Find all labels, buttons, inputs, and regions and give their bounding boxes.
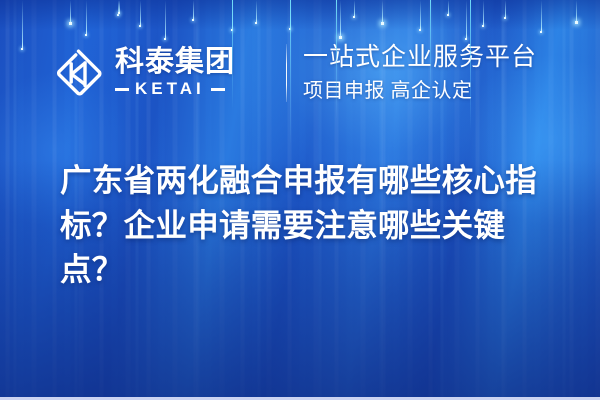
brand-header: 科泰集团 KETAI xyxy=(54,40,235,106)
cyan-accent-line xyxy=(470,0,471,130)
top-vignette xyxy=(0,0,600,30)
light-streak xyxy=(340,0,341,36)
light-streak xyxy=(256,0,257,22)
slogan-block: 一站式企业服务平台 项目申报 高企认定 xyxy=(303,42,537,104)
light-spark xyxy=(339,36,342,39)
brand-name-en: KETAI xyxy=(129,79,211,99)
cyan-accent-line xyxy=(336,0,337,120)
light-spark xyxy=(540,31,542,33)
light-streak xyxy=(193,0,194,19)
headline-title: 广东省两化融合申报有哪些核心指标？企业申请需要注意哪些关键点？ xyxy=(60,158,552,292)
light-spark xyxy=(575,21,578,24)
promo-banner: 科泰集团 KETAI 一站式企业服务平台 项目申报 高企认定 广东省两化融合申报… xyxy=(0,0,600,400)
header-divider xyxy=(286,44,287,102)
cyan-accent-line xyxy=(430,0,431,96)
light-spark xyxy=(117,14,119,16)
light-spark xyxy=(118,12,120,14)
light-spark xyxy=(21,48,23,50)
light-streak xyxy=(541,0,542,31)
light-streak xyxy=(70,0,71,22)
brand-name-cn: 科泰集团 xyxy=(115,47,235,77)
light-spark xyxy=(85,34,87,36)
light-streak xyxy=(576,0,577,21)
light-spark xyxy=(419,29,421,31)
light-spark xyxy=(139,25,141,27)
light-spark xyxy=(192,19,194,21)
light-streak xyxy=(140,0,141,25)
brand-name-en-row: KETAI xyxy=(115,79,235,99)
brand-lockup-text: 科泰集团 KETAI xyxy=(115,47,235,99)
light-streak xyxy=(483,0,484,25)
light-streak xyxy=(505,0,506,17)
light-streak xyxy=(448,0,449,14)
ketai-diamond-kt-logo-icon xyxy=(54,48,104,98)
slogan-secondary: 项目申报 高企认定 xyxy=(303,78,537,104)
cyan-accent-line xyxy=(290,0,291,145)
light-spark xyxy=(504,17,506,19)
light-streak xyxy=(354,0,355,16)
light-streak xyxy=(466,0,467,38)
dash-left-icon xyxy=(115,88,129,91)
light-spark xyxy=(447,14,449,16)
light-streak xyxy=(165,0,166,38)
light-spark xyxy=(381,22,384,25)
light-streak xyxy=(86,0,87,34)
light-streak xyxy=(118,0,119,14)
light-streak xyxy=(420,0,421,29)
light-spark xyxy=(353,16,355,18)
slogan-primary: 一站式企业服务平台 xyxy=(303,42,537,73)
light-spark xyxy=(465,38,467,40)
light-streak xyxy=(22,0,23,48)
light-spark xyxy=(69,22,72,25)
cyan-accent-line xyxy=(232,0,233,110)
light-spark xyxy=(255,22,257,24)
light-streak xyxy=(382,0,383,22)
dash-right-icon xyxy=(211,88,225,91)
light-streak xyxy=(119,0,120,12)
light-spark xyxy=(482,25,484,27)
